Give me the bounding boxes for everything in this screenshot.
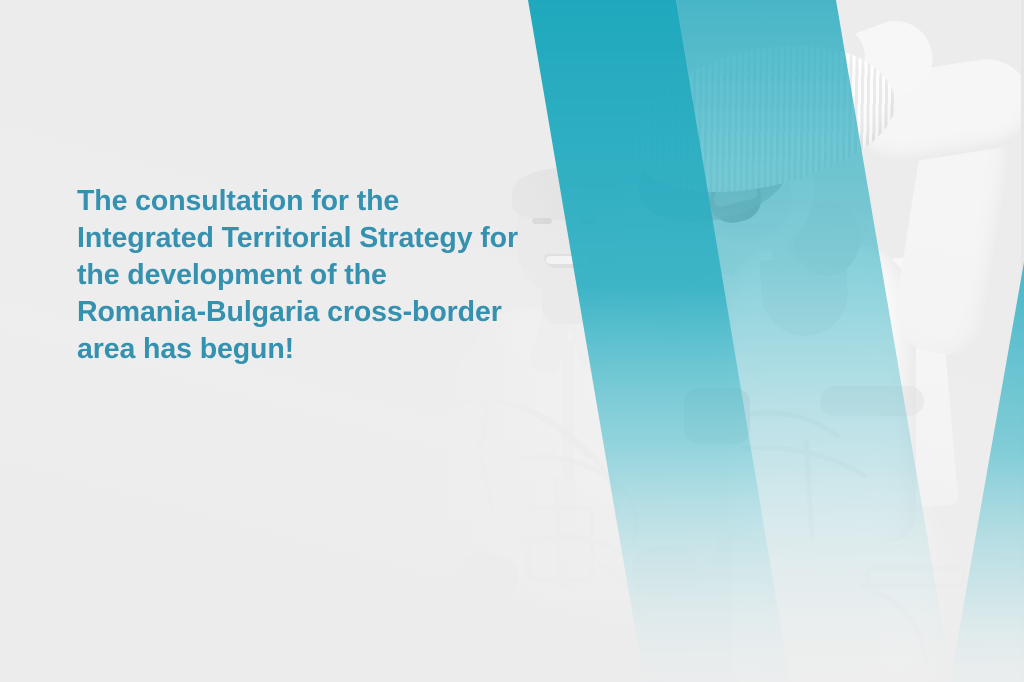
- bicycle-right: [684, 386, 964, 660]
- bicycle-group: [0, 330, 1024, 682]
- man-hair: [511, 166, 625, 222]
- man-left-eye: [532, 218, 552, 224]
- headline-line-2: Integrated Territorial Strategy for: [77, 220, 518, 257]
- headline-line-3: the development of the: [77, 257, 518, 294]
- headline-line-4: Romania-Bulgaria cross-border: [77, 294, 518, 331]
- headline-line-1: The consultation for the: [77, 183, 518, 220]
- man-teeth: [546, 256, 590, 264]
- bicycle-left: [452, 400, 642, 624]
- man-right-eye: [578, 218, 598, 224]
- page-title: The consultation for the Integrated Terr…: [77, 183, 518, 368]
- headline-line-5: area has begun!: [77, 331, 518, 368]
- slide-canvas: The consultation for the Integrated Terr…: [0, 0, 1024, 682]
